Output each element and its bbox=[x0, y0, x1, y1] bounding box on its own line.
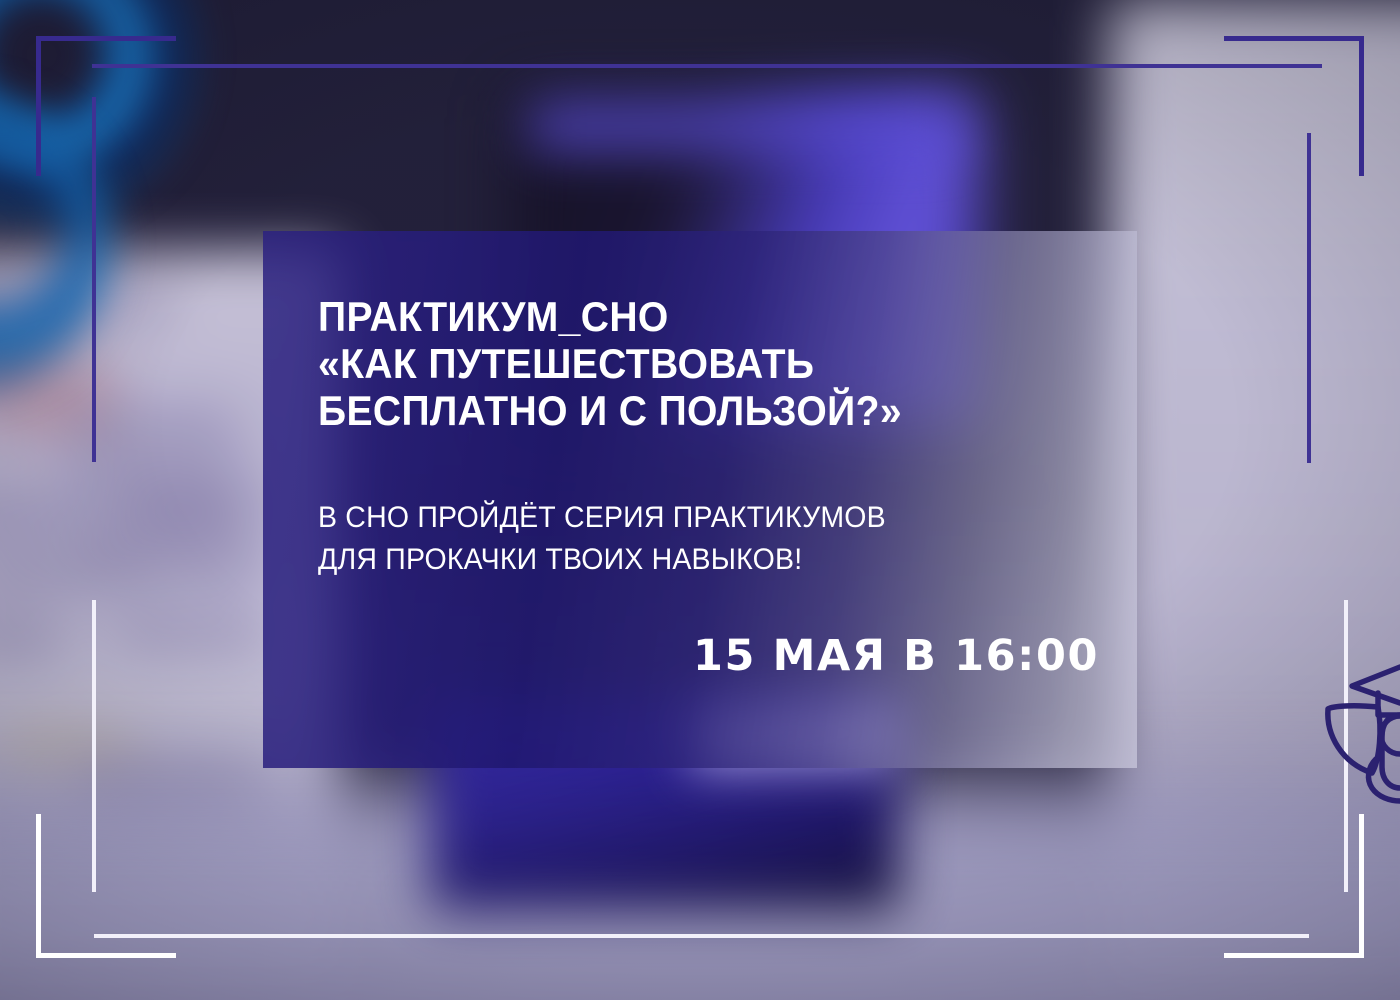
subtitle-line-2: ДЛЯ ПРОКАЧКИ ТВОИХ НАВЫКОВ! bbox=[318, 539, 1002, 581]
owl-graduation-cap-icon bbox=[1320, 659, 1400, 804]
content-panel: ПРАКТИКУМ_СНО «КАК ПУТЕШЕСТВОВАТЬ БЕСПЛА… bbox=[263, 231, 1137, 768]
event-poster: ПРАКТИКУМ_СНО «КАК ПУТЕШЕСТВОВАТЬ БЕСПЛА… bbox=[0, 0, 1400, 1000]
subtitle-line-1: В СНО ПРОЙДЁТ СЕРИЯ ПРАКТИКУМОВ bbox=[318, 497, 1002, 539]
bracket-top-left-outer-extend bbox=[36, 36, 176, 41]
bracket-bottom-right-outer bbox=[1224, 814, 1364, 958]
event-date-time: 15 МАЯ В 16:00 bbox=[693, 631, 1093, 681]
event-subtitle: В СНО ПРОЙДЁТ СЕРИЯ ПРАКТИКУМОВ ДЛЯ ПРОК… bbox=[318, 497, 1038, 581]
bracket-bottom-inner-horizontal bbox=[94, 934, 1309, 938]
bracket-top-right-inner bbox=[1307, 133, 1311, 463]
title-line-1: ПРАКТИКУМ_СНО bbox=[318, 293, 969, 340]
title-line-3: БЕСПЛАТНО И С ПОЛЬЗОЙ?» bbox=[318, 387, 969, 434]
title-line-2: «КАК ПУТЕШЕСТВОВАТЬ bbox=[318, 340, 969, 387]
bracket-bottom-left-inner-vertical bbox=[92, 600, 96, 892]
bracket-top-right-outer bbox=[1224, 36, 1364, 176]
event-title: ПРАКТИКУМ_СНО «КАК ПУТЕШЕСТВОВАТЬ БЕСПЛА… bbox=[318, 293, 1018, 434]
